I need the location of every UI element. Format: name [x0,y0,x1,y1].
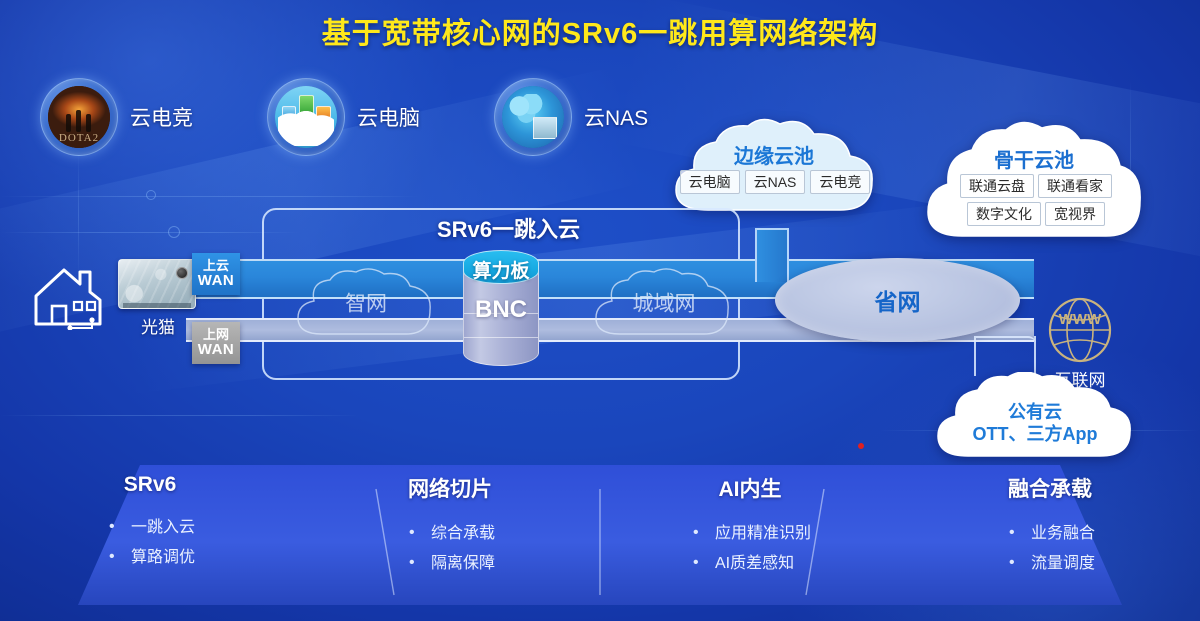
srv6-box-label: SRv6一跳入云 [437,212,580,244]
backbone-cloud-pool-title: 骨干云池 [920,144,1148,173]
edge-cloud-pool-title: 边缘云池 [668,140,880,169]
wan-badge-line1: 上云 [203,259,229,273]
service-icon-ring [267,78,345,156]
feature-column-srv6[interactable]: SRv6 一跳入云 算路调优 [0,455,300,621]
feature-item: 综合承载 [405,519,495,549]
wan-badge-cloud[interactable]: 上云 WAN [192,253,240,295]
wan-badge-line1: 上网 [203,328,229,342]
bnc-label: BNC [463,296,539,324]
feature-item: 流量调度 [1005,549,1095,579]
modem-indicator-dot [176,267,188,279]
public-cloud[interactable]: 公有云 OTT、三方App [932,372,1138,460]
feature-item: 一跳入云 [105,513,195,543]
public-cloud-line2: OTT、三方App [932,420,1138,446]
province-network-label: 省网 [875,283,921,317]
connector-to-public-cloud [974,336,1036,376]
bnc-cylinder[interactable]: 算力板 BNC [463,250,539,366]
edge-cloud-chip[interactable]: 云电脑 [680,170,740,194]
optical-modem-icon[interactable] [118,259,196,309]
feature-item: 算路调优 [105,543,195,573]
marker-dot [858,443,864,449]
cloud-nas-icon [502,86,564,148]
modem-base [123,303,191,308]
background-circuit-line-1 [0,196,420,197]
background-circuit-line-3 [0,415,360,416]
feature-list: 业务融合 流量调度 [1005,519,1095,578]
feature-title: 网络切片 [408,473,492,503]
service-cloud-gaming[interactable]: 云电竞 [40,78,193,156]
feature-title: AI内生 [719,473,782,503]
diagram-canvas: 基于宽带核心网的SRv6一跳用算网络架构 云电竞 [0,0,1200,621]
feature-item: 隔离保障 [405,549,495,579]
backbone-cloud-pool[interactable]: 骨干云池 联通云盘 联通看家 数字文化 宽视界 [920,120,1148,242]
feature-column-converged-bearing[interactable]: 融合承载 业务融合 流量调度 [900,455,1200,621]
feature-column-ai-native[interactable]: AI内生 应用精准识别 AI质差感知 [600,455,900,621]
page-title: 基于宽带核心网的SRv6一跳用算网络架构 [0,10,1200,52]
service-cloud-pc[interactable]: 云电脑 [267,78,420,156]
feature-list: 应用精准识别 AI质差感知 [689,519,811,578]
backbone-cloud-chip[interactable]: 宽视界 [1045,202,1105,226]
www-globe-icon: WWW [1045,296,1115,364]
feature-title: SRv6 [124,473,177,497]
feature-column-network-slicing[interactable]: 网络切片 综合承载 隔离保障 [300,455,600,621]
province-network[interactable]: 省网 [775,258,1020,342]
feature-columns: SRv6 一跳入云 算路调优 网络切片 综合承载 隔离保障 AI内生 应用精准识… [0,455,1200,621]
background-circuit-node-2 [168,226,180,238]
home-icon [30,258,116,330]
connector-province-to-internet [974,336,1036,376]
edge-cloud-chip[interactable]: 云NAS [745,170,806,194]
feature-item: 业务融合 [1005,519,1095,549]
wan-badge-internet[interactable]: 上网 WAN [192,322,240,364]
feature-title: 融合承载 [1008,473,1092,503]
feature-list: 综合承载 隔离保障 [405,519,495,578]
compute-board-label: 算力板 [463,256,539,283]
service-cloud-nas[interactable]: 云NAS [494,78,648,156]
service-label: 云NAS [584,102,648,132]
feature-panel: SRv6 一跳入云 算路调优 网络切片 综合承载 隔离保障 AI内生 应用精准识… [0,455,1200,621]
service-icon-ring [40,78,118,156]
feature-list: 一跳入云 算路调优 [105,513,195,572]
service-label: 云电竞 [130,102,193,132]
cloud-pc-icon [275,86,337,148]
background-circuit-line-2 [0,232,300,233]
edge-cloud-pool[interactable]: 边缘云池 云电脑 云NAS 云电竞 [668,118,880,216]
backbone-cloud-chip[interactable]: 联通云盘 [960,174,1034,198]
service-label: 云电脑 [357,102,420,132]
svg-text:WWW: WWW [1059,311,1102,328]
optical-modem-label: 光猫 [141,313,175,338]
edge-cloud-riser-pipe [755,228,789,282]
dota2-game-icon [48,86,110,148]
background-circuit-node-1 [146,190,156,200]
edge-cloud-chip[interactable]: 云电竞 [810,170,870,194]
backbone-cloud-chip[interactable]: 联通看家 [1038,174,1112,198]
wan-badge-line2: WAN [198,273,235,289]
backbone-cloud-chip[interactable]: 数字文化 [967,202,1041,226]
wan-badge-line2: WAN [198,342,235,358]
feature-item: 应用精准识别 [689,519,811,549]
service-icon-ring [494,78,572,156]
feature-item: AI质差感知 [689,549,811,579]
